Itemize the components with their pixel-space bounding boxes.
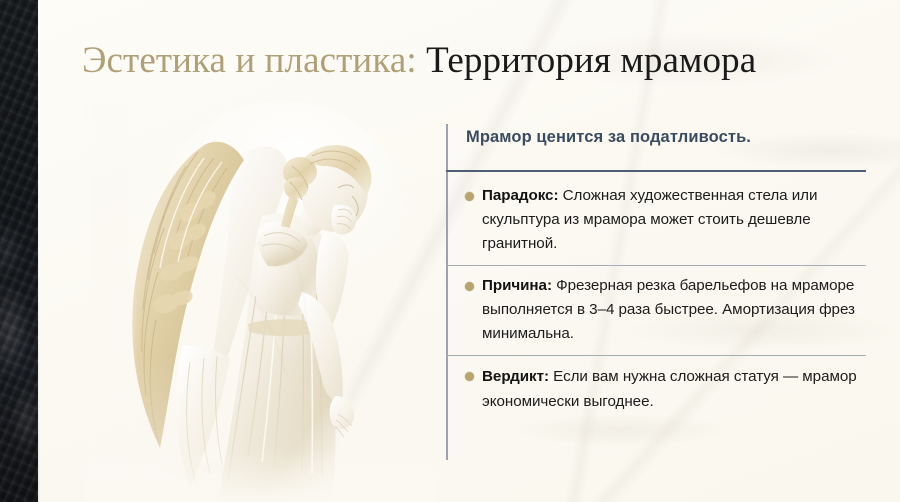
granite-band-edge xyxy=(38,0,40,502)
bullet-text: Парадокс: Сложная художественная стела и… xyxy=(482,184,866,256)
bullet-dot-icon xyxy=(465,192,474,201)
bullet-text: Вердикт: Если вам нужна сложная статуя —… xyxy=(482,364,866,414)
bullet-label: Вердикт: xyxy=(482,368,549,385)
list-item: Парадокс: Сложная художественная стела и… xyxy=(446,176,866,265)
content-panel: Мрамор ценится за податливость. Парадокс… xyxy=(446,124,882,460)
panel-heading-rule xyxy=(446,170,866,172)
slide-root: Эстетика и пластика: Территория мрамора xyxy=(0,0,900,502)
bullet-label: Причина: xyxy=(482,277,552,294)
granite-side-band xyxy=(0,0,38,502)
list-item: Вердикт: Если вам нужна сложная статуя —… xyxy=(446,355,866,423)
panel-heading: Мрамор ценится за податливость. xyxy=(466,126,882,148)
slide-title: Эстетика и пластика: Территория мрамора xyxy=(82,38,882,84)
marble-angel-statue-svg xyxy=(86,96,438,502)
title-main-text: Территория мрамора xyxy=(417,40,757,81)
list-item: Причина: Фрезерная резка барельефов на м… xyxy=(446,265,866,355)
bullet-list: Парадокс: Сложная художественная стела и… xyxy=(446,176,882,423)
marble-angel-statue-image xyxy=(86,96,438,502)
bullet-text: Причина: Фрезерная резка барельефов на м… xyxy=(482,274,866,346)
title-accent-text: Эстетика и пластика: xyxy=(82,40,417,81)
bullet-dot-icon xyxy=(465,282,474,291)
bullet-dot-icon xyxy=(465,372,474,381)
bullet-label: Парадокс: xyxy=(482,187,558,204)
